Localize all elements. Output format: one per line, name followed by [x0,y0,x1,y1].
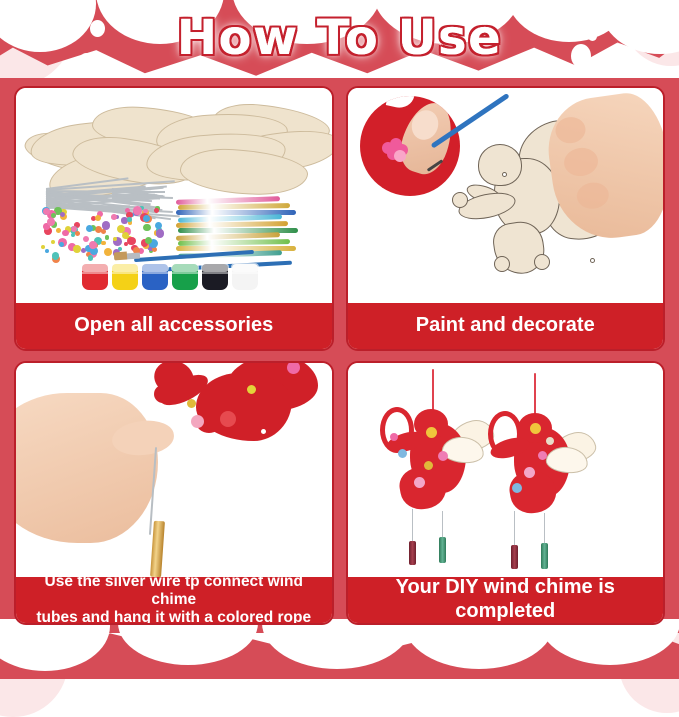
paint-pot-band [112,272,138,274]
cutout-hole [590,258,595,263]
flower-sticker [530,423,541,434]
flower-sticker [95,215,101,221]
finished-wind-chime-right [488,373,606,569]
cutout-hole [502,172,507,177]
footer-banner [0,619,679,679]
paint-pot [82,264,108,290]
cutout-knob [452,192,468,208]
chime-tube [439,537,446,563]
flower-sticker [71,233,75,237]
cupid-figure [488,411,606,517]
silver-wire-bundle [112,188,162,206]
page-title-wrapper: How To Use [0,10,679,66]
cutout-head [478,144,522,186]
step-panel-4[interactable]: Your DIY wind chime is completed [346,361,666,626]
chime-tube [511,545,518,569]
flower-sticker [191,415,204,428]
flower-sticker [105,235,110,240]
wind-chime-tube [178,228,298,233]
step-3-illustration [16,363,332,578]
sequin [546,437,554,445]
flower-sticker [47,218,55,226]
wind-chime-tube [178,203,290,210]
step-panel-1[interactable]: Open all accessories [14,86,334,351]
step-4-illustration [348,363,664,578]
step-2-caption: Paint and decorate [348,303,664,349]
flower-sticker [101,241,106,246]
flower-sticker [104,248,112,256]
chime-wire [544,513,546,545]
paint-pot-band [142,272,168,274]
finished-wind-chime-left [380,369,498,565]
step-panel-3[interactable]: Use the silver wire tp connect wind chim… [14,361,334,626]
paint-pot-band [172,272,198,274]
steps-grid: Open all accessories [14,86,665,625]
brush-ferrule [126,253,140,260]
flower-sticker [143,224,151,232]
page-title: How To Use [177,10,502,66]
caption-line: tubes and hang it with a colored rope [36,609,311,625]
flower-sticker [83,236,89,242]
flower-sticker [143,209,147,213]
flower-sticker [127,217,131,221]
flower-sticker [75,231,80,236]
paint-pot [172,264,198,290]
flower-sticker [414,477,425,488]
flower-sticker [220,411,236,427]
flower-sticker [45,249,49,253]
flower-sticker [62,230,68,236]
chime-wire [514,511,516,547]
step-1-caption: Open all accessories [16,303,332,349]
sequin [247,385,256,394]
flower-sticker [71,226,77,232]
cupid-knob [154,385,172,403]
flower-sticker [43,208,50,215]
painted-cupid [138,363,322,475]
sequin [424,461,433,470]
paint-pot [112,264,138,290]
flower-sticker [88,255,93,260]
flower-sticker [156,229,164,237]
flower-sticker [426,427,437,438]
flower-sticker [524,467,535,478]
wind-chime-tube [150,520,165,577]
inset-notch [385,96,415,110]
pink-flower-sticker [382,138,408,160]
flower-sticker [89,241,96,248]
flower-sticker [73,245,81,253]
paint-pot-band [82,272,108,274]
flower-sticker [287,363,300,374]
paint-pot [232,264,258,290]
sequin [261,429,266,434]
paint-pot-band [202,272,228,274]
step-3-caption-text: Use the silver wire tp connect wind chim… [22,573,326,625]
step-panel-2[interactable]: Paint and decorate [346,86,666,351]
brush-bristles [114,252,128,261]
paint-pot-lid [201,263,229,272]
paint-pot-lid [231,263,259,272]
paint-pot-band [232,272,258,274]
paint-pot-lid [81,263,109,272]
paint-pot-lid [171,263,199,272]
step-1-illustration [16,88,332,303]
sequin [398,449,407,458]
flower-sticker [102,221,111,230]
step-2-illustration [348,88,664,303]
chime-wire [412,509,414,543]
paint-pot-lid [111,263,139,272]
sequin [538,451,547,460]
wind-chime-tube [178,239,290,246]
cupid-figure [380,407,498,513]
step-3-caption: Use the silver wire tp connect wind chim… [16,577,332,623]
wind-chime-tube [176,221,288,228]
hand [16,393,158,543]
sequin [512,483,522,493]
flower-sticker [154,208,159,213]
flower-sticker-sheet [40,206,164,262]
paint-pot-lid [141,263,169,272]
cutout-knob [534,254,550,270]
sequin [390,433,398,441]
flower-sticker [56,228,61,233]
chime-tube [541,543,548,569]
caption-line: Use the silver wire tp connect wind chim… [45,573,303,608]
flower-sticker [111,214,117,220]
flower-sticker [52,252,59,259]
flower-sticker [438,451,448,461]
paint-pot [202,264,228,290]
chime-tube [409,541,416,565]
flower-sticker [86,225,93,232]
sequin [187,399,196,408]
flower-sticker [41,245,45,249]
sticker-closeup-inset [360,96,460,196]
paint-pot [142,264,168,290]
flower-sticker [51,240,55,244]
how-to-use-infographic: How To Use [0,0,679,679]
step-4-caption: Your DIY wind chime is completed [348,577,664,623]
cutout-knob [494,256,510,272]
flower-sticker [59,242,64,247]
flower-sticker [127,237,136,246]
